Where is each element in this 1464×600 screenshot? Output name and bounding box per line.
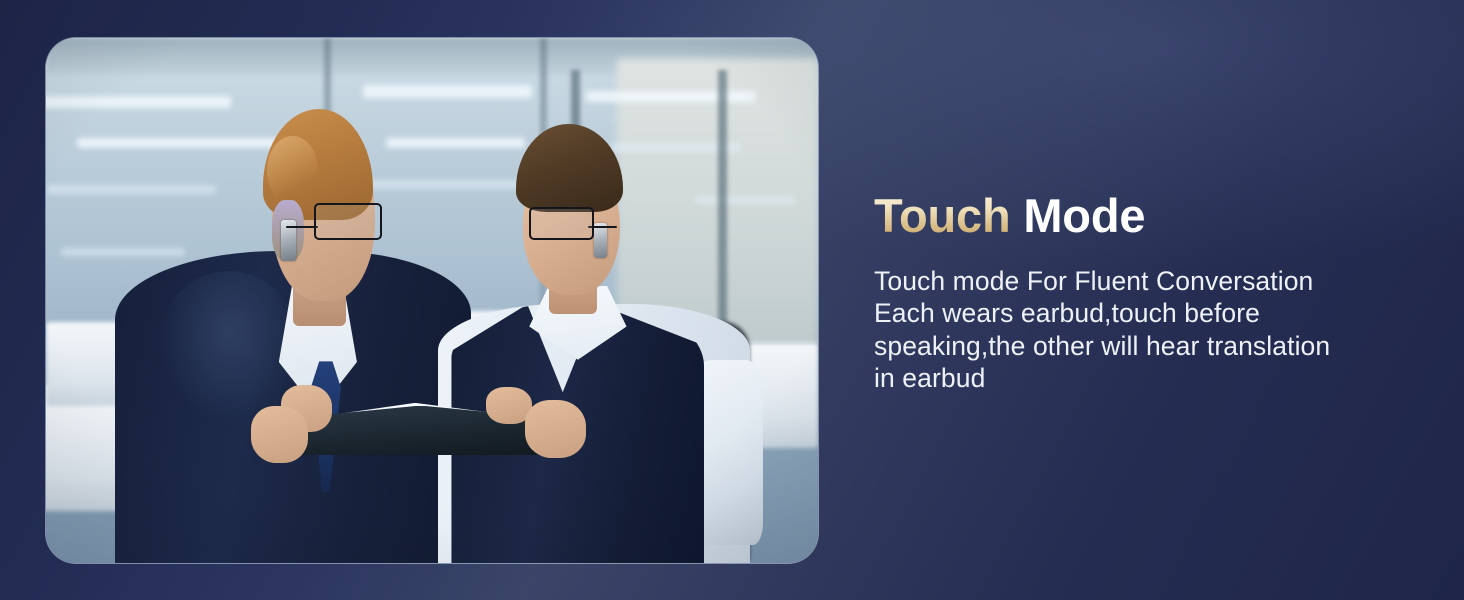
person-right xyxy=(432,101,756,563)
page-title: Touch Mode xyxy=(874,190,1394,243)
headline-highlight: Touch xyxy=(874,189,1011,242)
suit-highlight xyxy=(158,271,300,422)
description-line-3: speaking,the other will hear translation xyxy=(874,330,1374,363)
dark-hair xyxy=(516,124,623,212)
eyeglasses xyxy=(314,203,381,241)
description-line-2: Each wears earbud,touch before xyxy=(874,297,1374,330)
glasses-temple-arm xyxy=(286,226,318,228)
headline-rest: Mode xyxy=(1023,189,1145,242)
eyeglasses xyxy=(529,207,594,239)
person-left xyxy=(115,59,470,563)
description-line-1: Touch mode For Fluent Conversation xyxy=(874,265,1374,298)
description-text: Touch mode For Fluent Conversation Each … xyxy=(874,265,1374,395)
photo-scene xyxy=(46,38,818,563)
hand xyxy=(251,406,309,464)
translation-earbud-icon xyxy=(594,223,607,258)
text-panel: Touch Mode Touch mode For Fluent Convers… xyxy=(874,190,1394,395)
hand xyxy=(525,400,587,458)
description-line-4: in earbud xyxy=(874,362,1374,395)
office-photo xyxy=(46,38,818,563)
touch-mode-banner: Touch Mode Touch mode For Fluent Convers… xyxy=(0,0,1464,600)
